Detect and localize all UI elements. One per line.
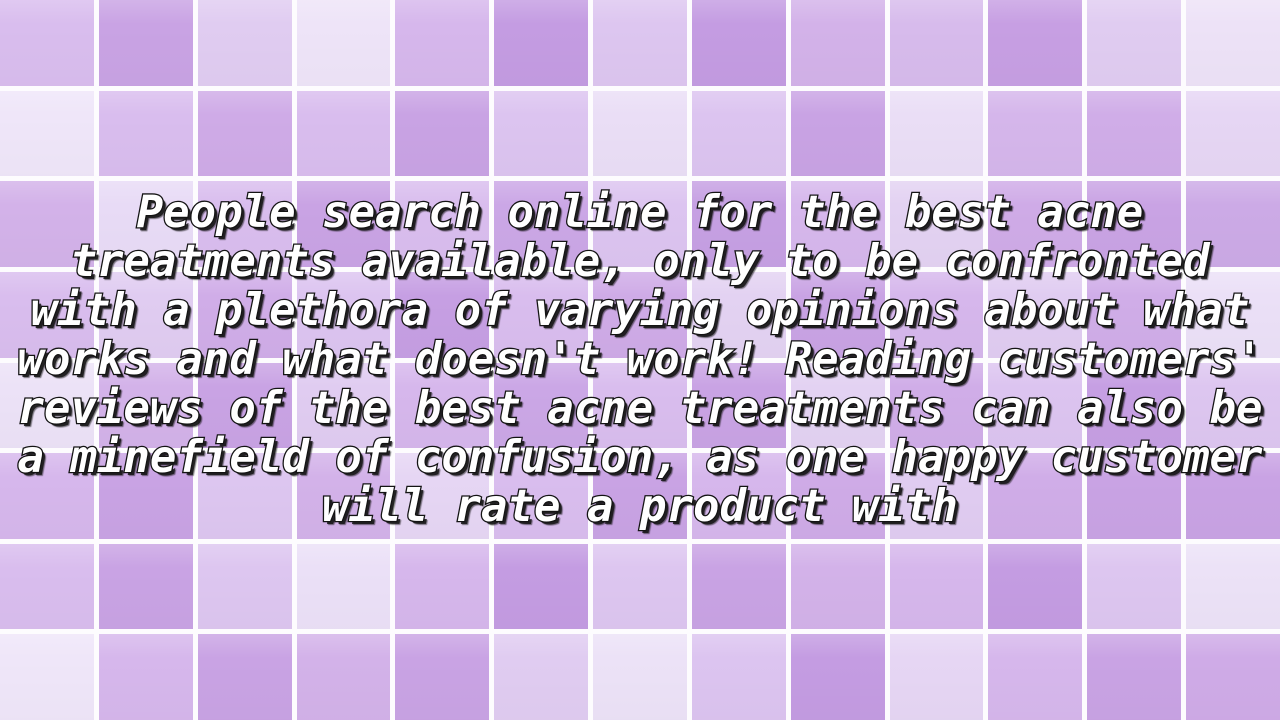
mosaic-tile: [297, 544, 391, 630]
mosaic-tile: [988, 453, 1082, 539]
mosaic-tile: [395, 181, 489, 267]
mosaic-tile: [395, 634, 489, 720]
mosaic-tile: [99, 453, 193, 539]
mosaic-tile: [198, 181, 292, 267]
mosaic-tile: [890, 544, 984, 630]
mosaic-tile: [1087, 0, 1181, 86]
mosaic-tile: [593, 363, 687, 449]
mosaic-tile: [198, 453, 292, 539]
mosaic-tile: [297, 634, 391, 720]
mosaic-tile: [494, 363, 588, 449]
mosaic-tile: [988, 272, 1082, 358]
mosaic-tile: [692, 453, 786, 539]
mosaic-tile: [0, 544, 94, 630]
mosaic-tile: [0, 272, 94, 358]
mosaic-tile: [791, 544, 885, 630]
mosaic-tile: [988, 0, 1082, 86]
mosaic-tile: [1087, 91, 1181, 177]
mosaic-tile: [988, 363, 1082, 449]
mosaic-tile: [1087, 453, 1181, 539]
mosaic-tile: [198, 272, 292, 358]
mosaic-tile: [692, 634, 786, 720]
mosaic-tile: [198, 544, 292, 630]
mosaic-tile: [1186, 181, 1280, 267]
mosaic-tile: [890, 272, 984, 358]
mosaic-tile: [395, 544, 489, 630]
mosaic-tile: [988, 181, 1082, 267]
mosaic-tile: [791, 453, 885, 539]
mosaic-tile: [1186, 0, 1280, 86]
mosaic-tile: [890, 453, 984, 539]
mosaic-tile: [1087, 363, 1181, 449]
mosaic-tile: [0, 91, 94, 177]
mosaic-tile: [593, 91, 687, 177]
mosaic-tile: [494, 272, 588, 358]
mosaic-tile: [99, 634, 193, 720]
mosaic-tile: [692, 272, 786, 358]
mosaic-tile: [395, 272, 489, 358]
mosaic-tile: [99, 0, 193, 86]
mosaic-tile: [1186, 91, 1280, 177]
mosaic-tile: [890, 363, 984, 449]
mosaic-tile: [988, 91, 1082, 177]
mosaic-tile: [791, 181, 885, 267]
mosaic-tile: [593, 634, 687, 720]
mosaic-tile: [791, 0, 885, 86]
mosaic-tile: [99, 363, 193, 449]
mosaic-tile: [494, 181, 588, 267]
mosaic-background: [0, 0, 1280, 720]
mosaic-tile: [988, 634, 1082, 720]
mosaic-tile: [297, 453, 391, 539]
mosaic-tile: [198, 363, 292, 449]
mosaic-tile: [0, 181, 94, 267]
mosaic-tile: [1186, 634, 1280, 720]
mosaic-tile: [395, 91, 489, 177]
mosaic-tile: [297, 272, 391, 358]
mosaic-tile: [692, 363, 786, 449]
mosaic-tile: [593, 181, 687, 267]
mosaic-tile: [890, 634, 984, 720]
mosaic-tile: [0, 453, 94, 539]
mosaic-tile: [593, 0, 687, 86]
mosaic-tile: [0, 634, 94, 720]
mosaic-tile: [1186, 453, 1280, 539]
mosaic-tile: [99, 91, 193, 177]
mosaic-tile: [99, 544, 193, 630]
mosaic-tile: [297, 363, 391, 449]
mosaic-tile: [0, 363, 94, 449]
mosaic-tile: [99, 181, 193, 267]
mosaic-tile: [494, 634, 588, 720]
mosaic-tile: [198, 91, 292, 177]
mosaic-tile: [395, 453, 489, 539]
mosaic-tile: [395, 363, 489, 449]
mosaic-tile: [1186, 272, 1280, 358]
mosaic-tile: [99, 272, 193, 358]
mosaic-tile: [494, 0, 588, 86]
mosaic-tile: [692, 544, 786, 630]
mosaic-tile: [1186, 363, 1280, 449]
mosaic-tile: [494, 91, 588, 177]
mosaic-tile: [791, 363, 885, 449]
mosaic-tile: [297, 181, 391, 267]
mosaic-tile: [1087, 544, 1181, 630]
mosaic-tile: [1186, 544, 1280, 630]
mosaic-tile: [791, 634, 885, 720]
mosaic-tile: [0, 0, 94, 86]
mosaic-tile: [494, 453, 588, 539]
mosaic-tile: [890, 91, 984, 177]
mosaic-tile: [297, 0, 391, 86]
mosaic-tile: [1087, 272, 1181, 358]
mosaic-tile: [198, 0, 292, 86]
mosaic-tile: [791, 91, 885, 177]
mosaic-tile: [791, 272, 885, 358]
screenshot-canvas: People search online for the best acne t…: [0, 0, 1280, 720]
mosaic-tile: [593, 272, 687, 358]
mosaic-tile: [692, 91, 786, 177]
mosaic-tile: [494, 544, 588, 630]
mosaic-tile: [1087, 181, 1181, 267]
mosaic-tile: [297, 91, 391, 177]
mosaic-tile: [988, 544, 1082, 630]
mosaic-tile: [1087, 634, 1181, 720]
mosaic-tile: [593, 544, 687, 630]
mosaic-tile: [890, 0, 984, 86]
mosaic-tile: [198, 634, 292, 720]
mosaic-tile: [593, 453, 687, 539]
mosaic-tile: [692, 0, 786, 86]
mosaic-tile: [395, 0, 489, 86]
mosaic-tile: [890, 181, 984, 267]
mosaic-tile: [692, 181, 786, 267]
